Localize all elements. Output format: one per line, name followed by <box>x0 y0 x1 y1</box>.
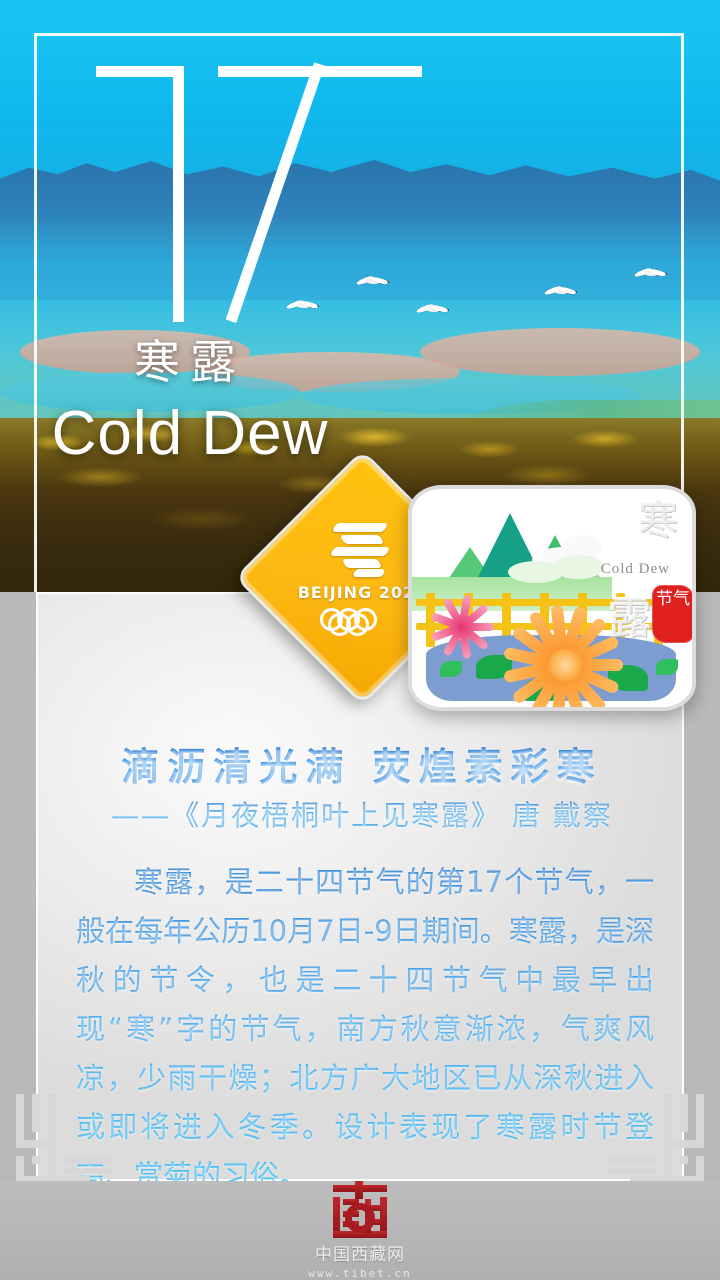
red-seal-stamp: 节气 <box>652 585 694 643</box>
numeral-one-stem <box>173 66 184 322</box>
site-name: 中国西藏网 <box>315 1240 405 1265</box>
winter-dream-emblem-icon <box>324 521 402 579</box>
flower-center <box>548 649 582 681</box>
numeral-one-flag <box>96 66 184 77</box>
solar-term-number <box>78 36 378 326</box>
site-url: www.tibet.cn <box>308 1267 411 1280</box>
title-english: Cold Dew <box>0 398 380 469</box>
title-chinese: 寒露 <box>0 326 380 392</box>
solar-term-poster: 寒露 Cold Dew 滴沥清光满 荧煌素彩寒 ——《月夜梧桐叶上见寒露》 唐 … <box>0 0 720 1280</box>
pink-chrysanthemum <box>430 597 502 659</box>
crane-bird <box>544 282 578 298</box>
medal-english-label: Cold Dew <box>601 561 670 578</box>
grass-shape <box>656 659 678 675</box>
site-footer: 中国西藏网 www.tibet.cn <box>0 1181 720 1280</box>
medal-han-bottom: 露 <box>608 597 652 641</box>
corner-ornament-right <box>608 1094 712 1184</box>
cold-dew-medal-badge: 寒 Cold Dew 露 节气 <box>408 485 696 711</box>
cloud-shape <box>508 561 564 583</box>
grass-shape <box>440 661 462 677</box>
corner-ornament-left <box>8 1094 112 1184</box>
numeral-seven-diagonal <box>226 62 325 323</box>
tibet-zang-logo-icon <box>329 1181 391 1236</box>
crane-bird <box>416 300 450 316</box>
description-paragraph: 寒露，是二十四节气的第17个节气，一般在每年公历10月7日-9日期间。寒露，是深… <box>76 858 654 1201</box>
poem-line: 滴沥清光满 荧煌素彩寒 <box>38 736 686 791</box>
crane-bird <box>634 264 668 280</box>
medal-han-top: 寒 <box>638 501 678 541</box>
olympic-rings-icon <box>320 608 406 634</box>
poem-source: ——《月夜梧桐叶上见寒露》 唐 戴察 <box>38 794 686 834</box>
dune-shape <box>420 328 700 376</box>
